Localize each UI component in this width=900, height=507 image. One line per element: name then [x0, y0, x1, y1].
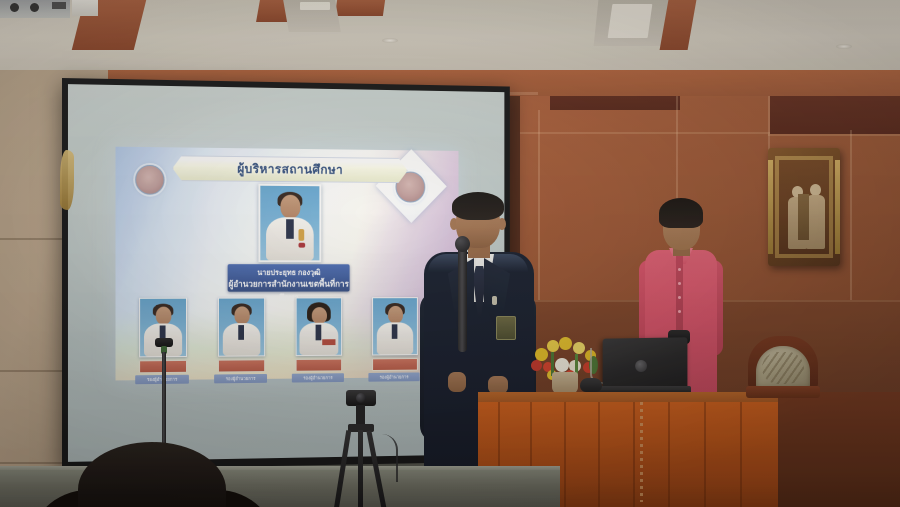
- presenter-hand-left: [448, 372, 466, 392]
- presentation-scene: ผู้บริหารสถานศึกษา นายประยุทธ กองวุฒิ ผู…: [0, 0, 900, 507]
- shirt-button: [678, 310, 681, 313]
- portrait-head: [388, 306, 403, 323]
- portrait-image: [779, 160, 829, 254]
- staff-card: รองผู้อำนวยการ: [296, 297, 341, 382]
- skirt-pleat: [598, 402, 600, 507]
- shirt-button: [678, 268, 681, 271]
- ceiling-diffuser: [72, 0, 98, 16]
- camera-tripod[interactable]: [330, 390, 390, 507]
- ceiling-fixture: [10, 3, 19, 12]
- shirt-button: [678, 282, 681, 285]
- shirt-button: [678, 296, 681, 299]
- ornate-chair[interactable]: [742, 330, 824, 400]
- staff-photo: [296, 297, 342, 356]
- chair-seat: [746, 386, 820, 398]
- wall-divider: [538, 110, 540, 310]
- presenter-hair: [452, 192, 504, 220]
- wall-divider: [768, 134, 900, 136]
- staff-card: รองผู้อำนวยการ: [218, 298, 263, 384]
- ceiling-fixture: [52, 2, 66, 9]
- portrait-tie: [316, 325, 322, 341]
- flower-vase: [552, 372, 578, 394]
- director-photo: [258, 184, 321, 263]
- portrait-head: [234, 306, 249, 324]
- skirt-pleat: [704, 402, 706, 507]
- skirt-pleat: [564, 402, 566, 507]
- staff-photo: [372, 297, 418, 355]
- portrait-tie: [286, 219, 294, 239]
- portrait-head: [280, 195, 300, 219]
- slide-title-text: ผู้บริหารสถานศึกษา: [172, 158, 405, 180]
- portrait-head: [156, 307, 172, 325]
- staff-photo: [218, 298, 265, 357]
- staff-role-label: รองผู้อำนวยการ: [368, 372, 419, 381]
- ceiling-light: [300, 2, 330, 10]
- ceiling-fixture: [30, 3, 39, 12]
- skirt-decorative-chain: [640, 402, 643, 502]
- camera-cable: [380, 434, 398, 482]
- portrait-medal: [299, 229, 305, 241]
- ceiling-light: [608, 4, 653, 38]
- ceiling-spotlight: [836, 44, 852, 49]
- staff-name-bar: [372, 358, 418, 371]
- ceiling-spotlight: [382, 38, 398, 43]
- computer-mouse[interactable]: [580, 378, 602, 392]
- portrait-head: [312, 307, 327, 324]
- flower-petal: [531, 360, 542, 371]
- wall-gold-crest: [60, 150, 74, 210]
- portrait-ribbon: [322, 339, 335, 345]
- portrait-inner-frame: [775, 156, 833, 258]
- portrait-center-detail: [798, 194, 809, 240]
- ceiling-beam: [335, 0, 385, 16]
- chest-name-badge: [496, 316, 516, 340]
- flower-petal: [547, 340, 559, 352]
- portrait-ribbon: [299, 243, 306, 248]
- laptop-logo-icon: [635, 360, 647, 372]
- skirt-pleat: [668, 402, 670, 507]
- seal-emblem-icon: [135, 165, 164, 195]
- staff-card: รองผู้อำนวยการ: [372, 297, 416, 381]
- director-caption-bar: นายประยุทธ กองวุฒิ ผู้อำนวยการสำนักงานเข…: [228, 264, 350, 292]
- slide-title-banner: ผู้บริหารสถานศึกษา: [172, 155, 405, 181]
- wall-divider: [520, 132, 770, 134]
- portrait-tie: [392, 324, 398, 339]
- staff-role-label: รองผู้อำนวยการ: [214, 374, 267, 383]
- tripod-leg: [334, 430, 351, 507]
- microphone-icon: [458, 242, 467, 352]
- camera-lens-icon: [356, 393, 366, 403]
- portrait-tie: [238, 325, 244, 340]
- staff-role-label: รองผู้อำนวยการ: [292, 373, 344, 382]
- chair-carving: [762, 352, 804, 384]
- staff-name-bar: [218, 359, 265, 372]
- skirt-pleat: [633, 402, 635, 507]
- skirt-pleat: [740, 402, 742, 507]
- frame-gold-trim: [768, 160, 773, 254]
- flower-petal: [573, 342, 585, 354]
- microphone-capsule-icon: [455, 236, 470, 252]
- assistant-hair: [659, 198, 703, 228]
- frame-gold-trim: [835, 160, 840, 254]
- staff-name-bar: [296, 359, 342, 372]
- lapel-pin-icon: [492, 296, 497, 305]
- framed-royal-portrait: [768, 148, 840, 266]
- tripod-leg: [358, 430, 363, 507]
- flower-petal: [559, 337, 572, 350]
